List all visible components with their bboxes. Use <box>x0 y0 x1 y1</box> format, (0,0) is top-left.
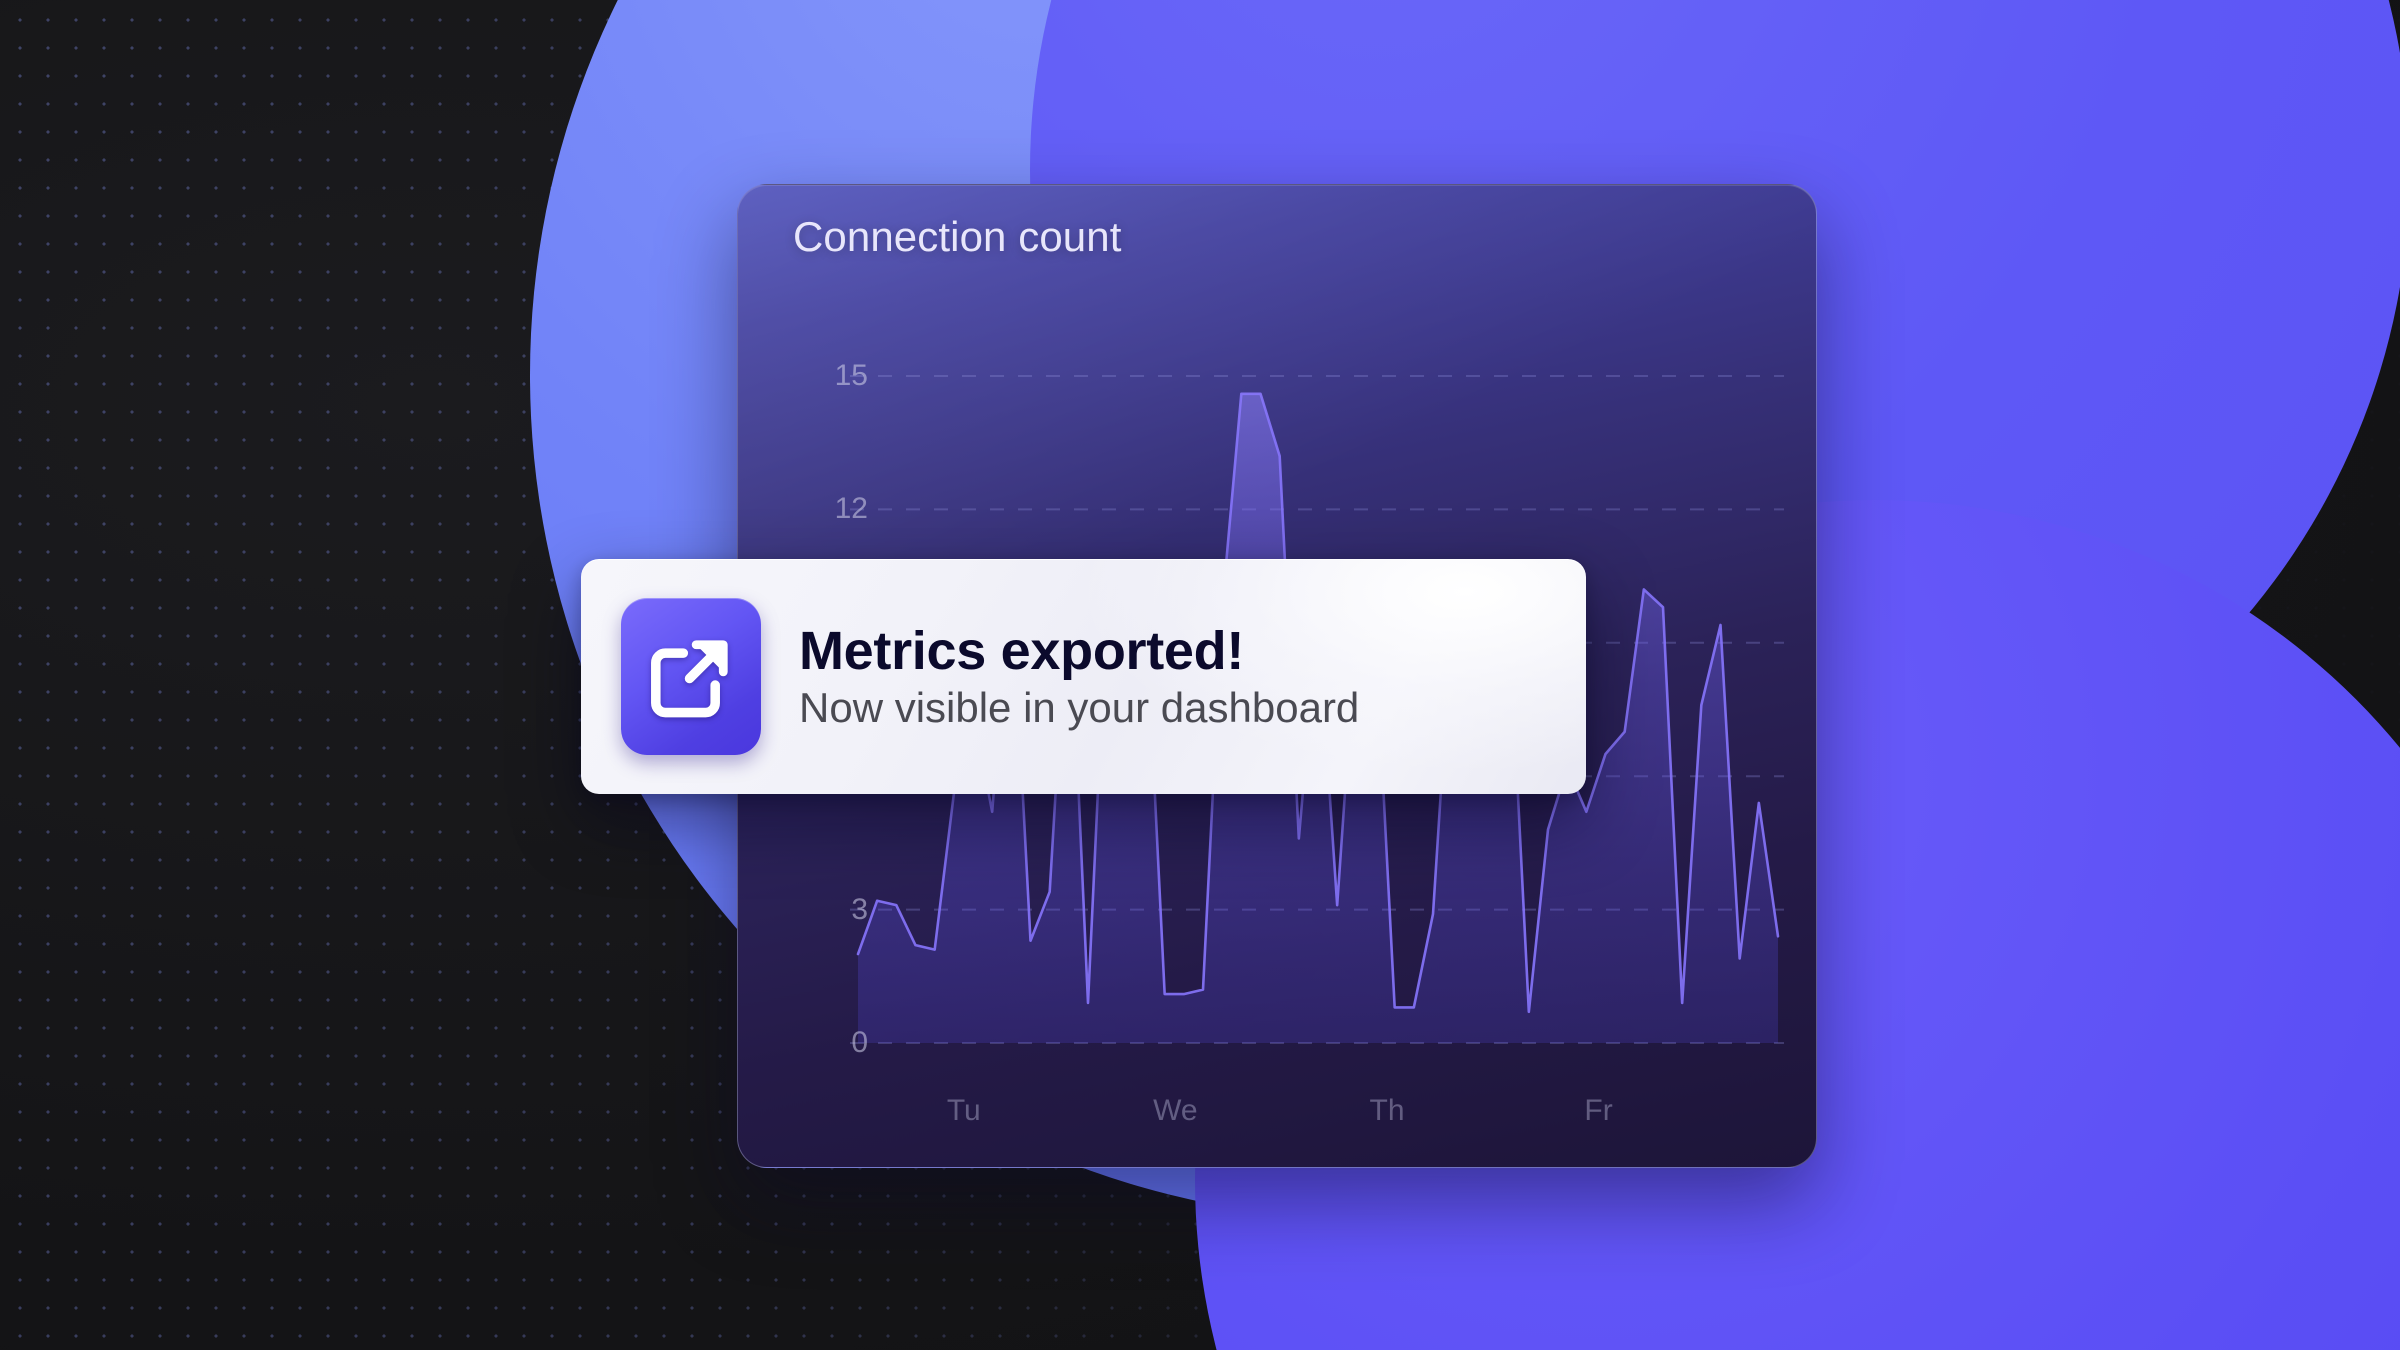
x-axis-label: Th <box>1369 1094 1404 1128</box>
metrics-exported-toast[interactable]: Metrics exported! Now visible in your da… <box>581 559 1586 794</box>
x-axis-ticks: TuWeThFr <box>738 1094 1816 1154</box>
y-axis-label: 15 <box>808 359 868 393</box>
x-axis-label: Tu <box>947 1094 981 1128</box>
toast-subtitle: Now visible in your dashboard <box>799 684 1359 731</box>
toast-text-block: Metrics exported! Now visible in your da… <box>799 622 1359 731</box>
screenshot-root: Connection count 031215 TuWeThFr <box>0 0 2400 1350</box>
y-axis-label: 12 <box>808 492 868 526</box>
toast-title: Metrics exported! <box>799 622 1359 680</box>
y-axis-label: 0 <box>808 1026 868 1060</box>
x-axis-label: Fr <box>1584 1094 1612 1128</box>
y-axis-label: 3 <box>808 893 868 927</box>
x-axis-label: We <box>1153 1094 1197 1128</box>
external-link-icon <box>621 598 761 755</box>
